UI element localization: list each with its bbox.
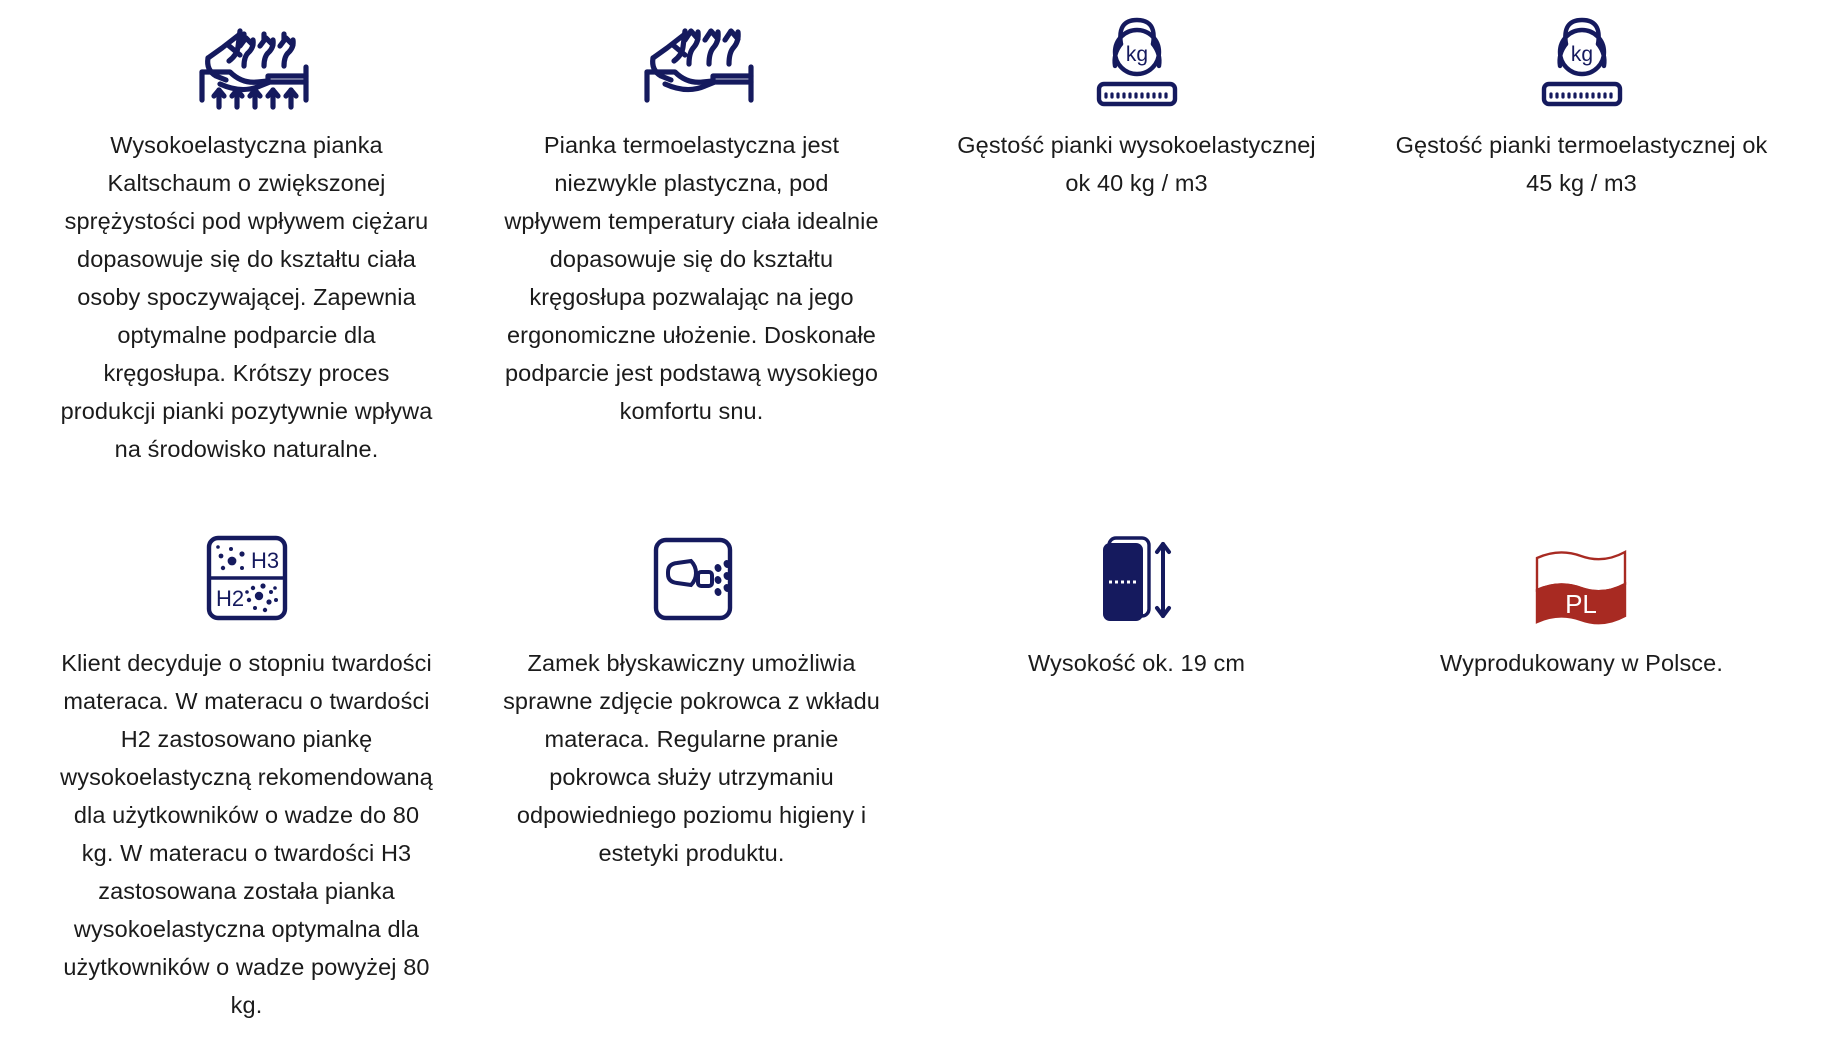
kettlebell-weight-icon: kg — [1530, 8, 1634, 112]
body-on-mattress-airflow-icon — [182, 8, 312, 112]
feature-cell-density-high-elastic: kg Gęstość pianki wysokoelastycznej ok 4… — [914, 0, 1359, 468]
feature-text: Pianka termoelastyczna jest niezwykle pl… — [503, 126, 880, 430]
hardness-h3-label: H3 — [250, 548, 278, 573]
feature-text: Klient decyduje o stopniu twardości mate… — [58, 644, 435, 1024]
mattress-height-arrow-icon — [1087, 530, 1187, 628]
kettlebell-kg-label: kg — [1125, 43, 1147, 66]
kettlebell-kg-label: kg — [1570, 43, 1592, 66]
feature-cell-made-in-poland: PL Wyprodukowany w Polsce. — [1359, 492, 1804, 1024]
hardness-h2-h3-icon: H3 H2 — [197, 530, 297, 628]
feature-text: Gęstość pianki wysokoelastycznej ok 40 k… — [948, 126, 1325, 202]
feature-cell-removable-cover-zipper: Zamek błyskawiczny umożliwia sprawne zdj… — [469, 492, 914, 1024]
feature-cell-mattress-height: Wysokość ok. 19 cm — [914, 492, 1359, 1024]
feature-text: Wysokoelastyczna pianka Kaltschaum o zwi… — [58, 126, 435, 468]
feature-cell-hardness-h2-h3: H3 H2 Klient decyduje o stop — [24, 492, 469, 1024]
body-on-mattress-heat-icon — [627, 8, 757, 112]
feature-cell-high-elastic-foam: Wysokoelastyczna pianka Kaltschaum o zwi… — [24, 0, 469, 468]
feature-cell-thermoelastic-foam: Pianka termoelastyczna jest niezwykle pl… — [469, 0, 914, 468]
zipper-icon — [642, 530, 742, 628]
hardness-h2-label: H2 — [215, 586, 243, 611]
feature-text: Wyprodukowany w Polsce. — [1440, 644, 1723, 682]
feature-text: Zamek błyskawiczny umożliwia sprawne zdj… — [503, 644, 880, 872]
feature-text: Wysokość ok. 19 cm — [1028, 644, 1245, 682]
feature-text: Gęstość pianki termoelastycznej ok 45 kg… — [1393, 126, 1770, 202]
poland-flag-icon: PL — [1523, 530, 1641, 628]
feature-grid: Wysokoelastyczna pianka Kaltschaum o zwi… — [0, 0, 1828, 1024]
feature-cell-density-thermoelastic: kg Gęstość pianki termoelastycznej ok 45… — [1359, 0, 1804, 468]
poland-flag-label: PL — [1565, 589, 1597, 619]
kettlebell-weight-icon: kg — [1085, 8, 1189, 112]
